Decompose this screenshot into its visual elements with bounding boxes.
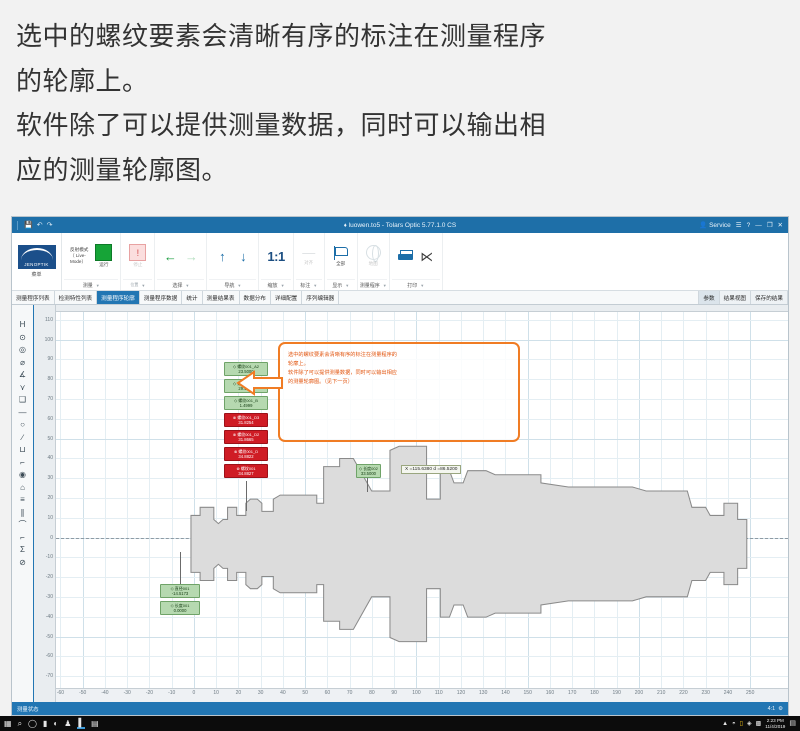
windows-start-icon[interactable]: ▦ xyxy=(4,720,12,728)
x-axis-tick-label: -60 xyxy=(57,690,64,696)
globe-icon xyxy=(366,245,381,260)
ribbon-group-measure: 反射模式 （ Live- Mode） 运行 测量 ▼ xyxy=(62,233,121,290)
line-tool-icon[interactable]: — xyxy=(19,409,27,417)
tab-program-contour[interactable]: 测量程序轮廓 xyxy=(97,291,140,304)
chip-value: 33.5000 xyxy=(359,471,378,476)
ribbon-group-navigate-label: 导航 xyxy=(224,282,234,289)
help-button[interactable]: ? xyxy=(747,222,751,229)
chip-value: 34.8822 xyxy=(227,454,265,459)
measure-chip-red-1[interactable]: ⊗ 螺纹001_D331.8254 xyxy=(224,413,268,427)
search-icon[interactable]: ⌕ xyxy=(18,720,22,728)
callout-line-1: 选中的螺纹要素会清晰有序的标注在测量程序的 xyxy=(288,351,510,360)
live-mode-line3: Mode） xyxy=(70,259,86,264)
run-label: 运行 xyxy=(99,262,108,267)
chevron-down-icon[interactable]: ▼ xyxy=(96,283,100,288)
chevron-down-icon[interactable]: ▼ xyxy=(281,283,285,288)
arrow-down-icon: ↓ xyxy=(240,250,247,263)
y-axis-tick-label: 80 xyxy=(47,376,53,382)
y-axis-tick-label: 60 xyxy=(47,416,53,422)
x-axis-tick-label: 120 xyxy=(457,690,465,696)
run-green-button[interactable]: 运行 xyxy=(93,243,114,268)
chip-value: 31.8665 xyxy=(227,437,265,442)
maximize-button[interactable]: ❐ xyxy=(767,221,773,229)
intro-line-2: 的轮廓上。 xyxy=(16,59,784,104)
chip-leader-line xyxy=(246,481,247,511)
measure-chip-lower-2[interactable]: ◇ 长度0010.0000 xyxy=(160,601,200,615)
intro-text-block: 选中的螺纹要素会清晰有序的标注在测量程序 的轮廓上。 软件除了可以提供测量数据，… xyxy=(0,0,800,216)
x-axis-tick-label: 170 xyxy=(568,690,576,696)
ribbon-group-measure-label: 测量 xyxy=(83,282,93,289)
prev-arrow-button[interactable]: ← xyxy=(161,249,179,264)
ribbon-group-program-label: 测量程序 xyxy=(360,282,380,289)
chevron-down-icon[interactable]: ▼ xyxy=(383,283,387,288)
show-all-button[interactable]: 全部 xyxy=(331,245,351,267)
y-axis-tick-label: 100 xyxy=(45,337,53,343)
x-axis-tick-label: 80 xyxy=(369,690,375,696)
contour-plot-area[interactable]: ◇ 螺纹001_A223.5000◇ 螺纹001_A129.5555◇ 螺纹00… xyxy=(56,305,788,702)
rectangle-tool-icon[interactable]: ❑ xyxy=(19,396,26,404)
tab-program-list[interactable]: 测量程序列表 xyxy=(12,291,55,304)
chevron-down-icon[interactable]: ▼ xyxy=(237,283,241,288)
runout-tool-icon[interactable]: ⊘ xyxy=(19,559,26,567)
x-axis-tick-label: 70 xyxy=(347,690,353,696)
x-axis-tick-label: 30 xyxy=(258,690,264,696)
status-text: 测量状态 xyxy=(17,705,39,713)
taskbar-app-folder[interactable]: ▤ xyxy=(91,720,99,728)
chip-value: 1.4999 xyxy=(227,403,265,408)
windows-taskbar: ▦ ⌕ ◯ ▮ ◐ ♟ ▌ ▤ ▲ ◓ ▯ ◈ ▩ 2:23 PM 11/4/2… xyxy=(0,716,800,731)
intro-line-4: 应的测量轮廓图。 xyxy=(16,148,784,193)
tray-volume-icon[interactable]: ◈ xyxy=(747,721,752,727)
taskbar-app-explorer[interactable]: ▮ xyxy=(43,720,47,728)
x-axis-tick-label: 180 xyxy=(590,690,598,696)
ribbon-toolbar: JENOPTIK 菜单 反射模式 （ Live- Mode） 运行 xyxy=(12,233,788,291)
tab-detail-config[interactable]: 详细配置 xyxy=(271,291,302,304)
chip-leader-line xyxy=(180,552,181,584)
sum-tool-icon[interactable]: Σ xyxy=(20,546,25,554)
stop-label: 停止 xyxy=(133,262,142,267)
coordinate-readout: X =115.6380 d =86.5200 xyxy=(401,465,461,474)
groove-tool-icon[interactable]: ⊔ xyxy=(19,446,25,454)
redo-icon[interactable]: ↷ xyxy=(47,222,53,229)
y-axis-tick-label: -20 xyxy=(46,574,53,580)
vee-tool-icon[interactable]: ⋎ xyxy=(20,384,26,392)
ribbon-group-display: 全部 显示 ▼ xyxy=(325,233,358,290)
tab-result-table[interactable]: 测量结果表 xyxy=(203,291,240,304)
arrow-left-icon: ← xyxy=(164,250,177,263)
x-axis-tick-label: 160 xyxy=(546,690,554,696)
chip-value: -14.5173 xyxy=(163,591,197,596)
next-arrow-button[interactable]: → xyxy=(182,249,200,264)
tab-strip: 测量程序列表 检测特性列表 测量程序轮廓 测量程序数据 统计 测量结果表 数据分… xyxy=(12,291,788,305)
layout-icon[interactable]: ☰ xyxy=(736,221,742,229)
x-axis-tick-label: 110 xyxy=(435,690,443,696)
x-axis-tick-label: 50 xyxy=(302,690,308,696)
arc-tool-icon[interactable]: ⌒ xyxy=(19,521,27,529)
chevron-down-icon[interactable]: ▼ xyxy=(185,283,189,288)
live-mode-toggle[interactable]: 反射模式 （ Live- Mode） xyxy=(68,246,90,266)
tab-feature-list[interactable]: 检测特性列表 xyxy=(55,291,98,304)
x-axis-tick-label: 190 xyxy=(613,690,621,696)
intro-line-1: 选中的螺纹要素会清晰有序的标注在测量程序 xyxy=(16,14,784,59)
arrow-up-icon: ↑ xyxy=(219,250,226,263)
undo-icon[interactable]: ↶ xyxy=(37,222,43,229)
x-axis-tick-label: 0 xyxy=(193,690,196,696)
x-axis-tick-label: 140 xyxy=(501,690,509,696)
x-axis-tick-label: 20 xyxy=(236,690,242,696)
y-axis-tick-label: 90 xyxy=(47,356,53,362)
chip-leader-line xyxy=(367,478,368,492)
y-axis-tick-label: -60 xyxy=(46,653,53,659)
ribbon-group-select-label: 选择 xyxy=(172,282,182,289)
intro-line-3: 软件除了可以提供测量数据，同时可以输出相 xyxy=(16,103,784,148)
y-axis-tick-label: 40 xyxy=(47,455,53,461)
tray-network-icon[interactable]: ◓ xyxy=(732,721,736,727)
y-axis-tick-label: -50 xyxy=(46,634,53,640)
taskbar-app-tolars[interactable]: ▌ xyxy=(77,719,85,729)
tools-button[interactable]: ⋉ xyxy=(418,249,436,264)
concentric-tool-icon[interactable]: ◎ xyxy=(19,346,26,354)
up-arrow-button[interactable]: ↑ xyxy=(213,249,231,264)
x-axis-tick-label: 60 xyxy=(325,690,331,696)
callout-line-3: 软件除了可以提供测量数据，同时可以输出相应 xyxy=(288,369,510,378)
notification-icon[interactable]: ▤ xyxy=(789,720,796,727)
printer-icon xyxy=(398,250,413,262)
logo-text: JENOPTIK xyxy=(24,262,48,267)
ribbon-group-position: ! 停止 位置 ▼ xyxy=(121,233,155,290)
callout-line-4: 的测量轮廓图。（见下一页） xyxy=(288,378,510,387)
stop-button[interactable]: ! 停止 xyxy=(127,243,148,268)
tab-data-distribution[interactable]: 数据分布 xyxy=(240,291,271,304)
ribbon-group-zoom-label: 缩放 xyxy=(268,282,278,289)
measure-chip-red-4[interactable]: ⊗ 螺纹00134.8827 xyxy=(224,464,268,478)
jenoptik-logo-mark: JENOPTIK xyxy=(18,245,56,269)
ribbon-group-display-label: 显示 xyxy=(332,282,342,289)
chevron-down-icon[interactable]: ▼ xyxy=(313,283,317,288)
measure-chip-lower-1[interactable]: ◇ 直径001-14.5173 xyxy=(160,584,200,598)
y-axis-tick-label: -70 xyxy=(46,673,53,679)
tab-parameters[interactable]: 参数 xyxy=(699,291,719,304)
minimize-button[interactable]: — xyxy=(755,222,762,229)
y-axis-tick-label: -40 xyxy=(46,614,53,620)
step-tool-icon[interactable]: ⌐ xyxy=(20,459,25,467)
user-indicator[interactable]: 👤 Service xyxy=(699,221,731,229)
taskbar-app-media[interactable]: ♟ xyxy=(64,720,71,728)
round-tool-icon[interactable]: ○ xyxy=(20,421,25,429)
measure-chip-red-2[interactable]: ⊗ 螺纹001_D231.8665 xyxy=(224,430,268,444)
x-axis-tick-label: 220 xyxy=(679,690,687,696)
y-axis-tick-label: 70 xyxy=(47,396,53,402)
x-axis-tick-label: 150 xyxy=(524,690,532,696)
align-icon: — xyxy=(302,246,315,259)
vertical-ruler[interactable]: 1101009080706050403020100-10-20-30-40-50… xyxy=(34,305,56,702)
angle-tool-icon[interactable]: ∡ xyxy=(19,371,26,379)
x-axis-tick-label: -50 xyxy=(79,690,86,696)
ribbon-group-position-label: 位置 xyxy=(130,282,138,288)
profile-outline xyxy=(191,446,747,641)
user-icon: 👤 xyxy=(699,221,707,229)
y-axis-tick-label: -30 xyxy=(46,594,53,600)
arrow-right-icon: → xyxy=(185,250,198,263)
logo-arc-icon xyxy=(21,248,53,260)
flag-icon xyxy=(333,246,349,260)
title-bar: 💾 ↶ ↷ ♦ luowen.to5 - Tolars Optic 5.77.1… xyxy=(12,217,788,233)
tab-strip-spacer xyxy=(339,291,699,304)
tab-statistics[interactable]: 统计 xyxy=(182,291,202,304)
title-divider xyxy=(17,221,18,230)
y-axis-tick-label: 10 xyxy=(47,515,53,521)
live-mode-line1: 反射模式 xyxy=(70,247,88,252)
y-axis-tick-label: 30 xyxy=(47,475,53,481)
ribbon-group-navigate: ↑ ↓ 导航 ▼ xyxy=(207,233,259,290)
parallel-lines-icon[interactable]: ≡ xyxy=(20,496,25,504)
x-axis-tick-label: -20 xyxy=(146,690,153,696)
slope-tool-icon[interactable]: ∕ xyxy=(22,434,23,442)
chevron-down-icon[interactable]: ▼ xyxy=(141,283,145,288)
menu-label: 菜单 xyxy=(31,271,41,278)
print-button[interactable] xyxy=(396,249,415,263)
x-axis-tick-label: 100 xyxy=(412,690,420,696)
ribbon-group-print: ⋉ 打印 ▼ xyxy=(390,233,443,290)
work-area: H⊙◎⌀∡⋎❑—○∕⊔⌐◉⌂≡∥⌒⌐Σ⊘ 1101009080706050403… xyxy=(12,305,788,702)
run-green-swatch-icon xyxy=(95,244,112,261)
stop-icon: ! xyxy=(129,244,146,261)
chamfer-tool-icon[interactable]: ⌂ xyxy=(20,484,25,492)
tab-program-data[interactable]: 测量程序数据 xyxy=(140,291,183,304)
app-logo[interactable]: JENOPTIK 菜单 xyxy=(12,233,62,290)
live-mode-line2: （ Live- xyxy=(70,253,86,258)
chip-value: 0.0000 xyxy=(163,608,197,613)
y-axis-tick-label: 110 xyxy=(45,317,53,323)
corner-tool-icon[interactable]: ⌐ xyxy=(20,534,25,542)
zoom-one-to-one-button[interactable]: 1:1 xyxy=(265,248,286,265)
y-axis-tick-label: -10 xyxy=(46,554,53,560)
user-name: Service xyxy=(709,222,731,229)
align-button[interactable]: — 对齐 xyxy=(300,245,318,266)
parallelism-icon[interactable]: ∥ xyxy=(21,509,25,517)
taskbar-clock[interactable]: 2:23 PM 11/4/2019 xyxy=(765,718,785,729)
ribbon-group-print-label: 打印 xyxy=(407,282,417,289)
x-axis-tick-label: 230 xyxy=(702,690,710,696)
height-tool-icon[interactable]: H xyxy=(20,321,26,329)
ribbon-group-annotate-label: 标注 xyxy=(300,282,310,289)
window-title: ♦ luowen.to5 - Tolars Optic 5.77.1.0 CS xyxy=(12,222,788,229)
chip-value: 34.8827 xyxy=(227,471,265,476)
callout-arrow-icon xyxy=(236,370,284,396)
close-button[interactable]: ✕ xyxy=(778,221,783,229)
chevron-down-icon[interactable]: ▼ xyxy=(420,283,424,288)
measurement-tool-palette: H⊙◎⌀∡⋎❑—○∕⊔⌐◉⌂≡∥⌒⌐Σ⊘ xyxy=(12,305,34,702)
x-axis-tick-label: -30 xyxy=(124,690,131,696)
x-axis-tick-label: 10 xyxy=(213,690,219,696)
align-label: 对齐 xyxy=(304,260,313,265)
callout-line-2: 轮廓上。 xyxy=(288,360,510,369)
x-axis-tick-label: 90 xyxy=(391,690,397,696)
diameter-tool-icon[interactable]: ⌀ xyxy=(20,359,25,367)
task-view-icon[interactable]: ◯ xyxy=(28,720,37,728)
application-window: 💾 ↶ ↷ ♦ luowen.to5 - Tolars Optic 5.77.1… xyxy=(11,216,789,716)
x-axis-tick-label: -10 xyxy=(168,690,175,696)
x-axis-tick-label: 210 xyxy=(657,690,665,696)
tray-shield-icon[interactable]: ▩ xyxy=(756,721,762,727)
taskbar-app-edge[interactable]: ◐ xyxy=(53,720,58,728)
x-axis-tick-label: 40 xyxy=(280,690,286,696)
tab-result-view[interactable]: 结果视图 xyxy=(720,291,751,304)
y-axis-tick-label: 20 xyxy=(47,495,53,501)
contour-plot[interactable]: ◇ 螺纹001_A223.5000◇ 螺纹001_A129.5555◇ 螺纹00… xyxy=(56,312,788,688)
horizontal-ruler-bottom[interactable]: -60-50-40-30-20-100102030405060708090100… xyxy=(56,688,788,702)
ribbon-group-zoom: 1:1 缩放 ▼ xyxy=(259,233,293,290)
chip-value: 31.8254 xyxy=(227,420,265,425)
y-axis-tick-label: 0 xyxy=(50,535,53,541)
circle-tool-icon[interactable]: ⊙ xyxy=(19,334,26,342)
window-title-text: luowen.to5 - Tolars Optic 5.77.1.0 CS xyxy=(349,222,457,229)
save-icon[interactable]: 💾 xyxy=(24,222,33,229)
tab-sequence-editor[interactable]: 序列编辑器 xyxy=(302,291,339,304)
status-scale: 4:1 xyxy=(768,706,776,712)
tray-battery-icon[interactable]: ▯ xyxy=(740,721,743,727)
chevron-down-icon[interactable]: ▼ xyxy=(345,283,349,288)
ribbon-group-program: 地图 测量程序 ▼ xyxy=(358,233,390,290)
clock-time: 2:23 PM xyxy=(767,718,784,723)
ribbon-group-annotate: — 对齐 标注 ▼ xyxy=(294,233,325,290)
tray-chevron-icon[interactable]: ▲ xyxy=(722,721,728,727)
map-button[interactable]: 地图 xyxy=(364,244,383,267)
status-bar: 测量状态 4:1 ⚙ xyxy=(12,702,788,715)
annotation-callout: 选中的螺纹要素会清晰有序的标注在测量程序的 轮廓上。 软件除了可以提供测量数据，… xyxy=(278,342,520,442)
y-axis-tick-label: 50 xyxy=(47,436,53,442)
point-tool-icon[interactable]: ◉ xyxy=(19,471,26,479)
x-axis-tick-label: 240 xyxy=(724,690,732,696)
show-all-label: 全部 xyxy=(336,261,345,266)
wrench-icon: ⋉ xyxy=(420,250,433,263)
status-gear-icon[interactable]: ⚙ xyxy=(778,706,783,712)
x-axis-tick-label: 250 xyxy=(746,690,754,696)
clock-date: 11/4/2019 xyxy=(765,724,785,729)
down-arrow-button[interactable]: ↓ xyxy=(234,249,252,264)
measure-chip-green-3[interactable]: ◇ 螺纹001_B1.4999 xyxy=(224,396,268,410)
measure-chip-center[interactable]: ◇ 长度002 33.5000 xyxy=(356,464,381,478)
map-label: 地图 xyxy=(369,261,378,266)
x-axis-tick-label: -40 xyxy=(101,690,108,696)
zoom-ratio-label: 1:1 xyxy=(267,249,284,264)
measure-chip-red-3[interactable]: ⊗ 螺纹001_D34.8822 xyxy=(224,447,268,461)
ribbon-group-select: ← → 选择 ▼ xyxy=(155,233,207,290)
x-axis-tick-label: 200 xyxy=(635,690,643,696)
tab-saved-results[interactable]: 保存的结果 xyxy=(751,291,788,304)
x-axis-tick-label: 130 xyxy=(479,690,487,696)
